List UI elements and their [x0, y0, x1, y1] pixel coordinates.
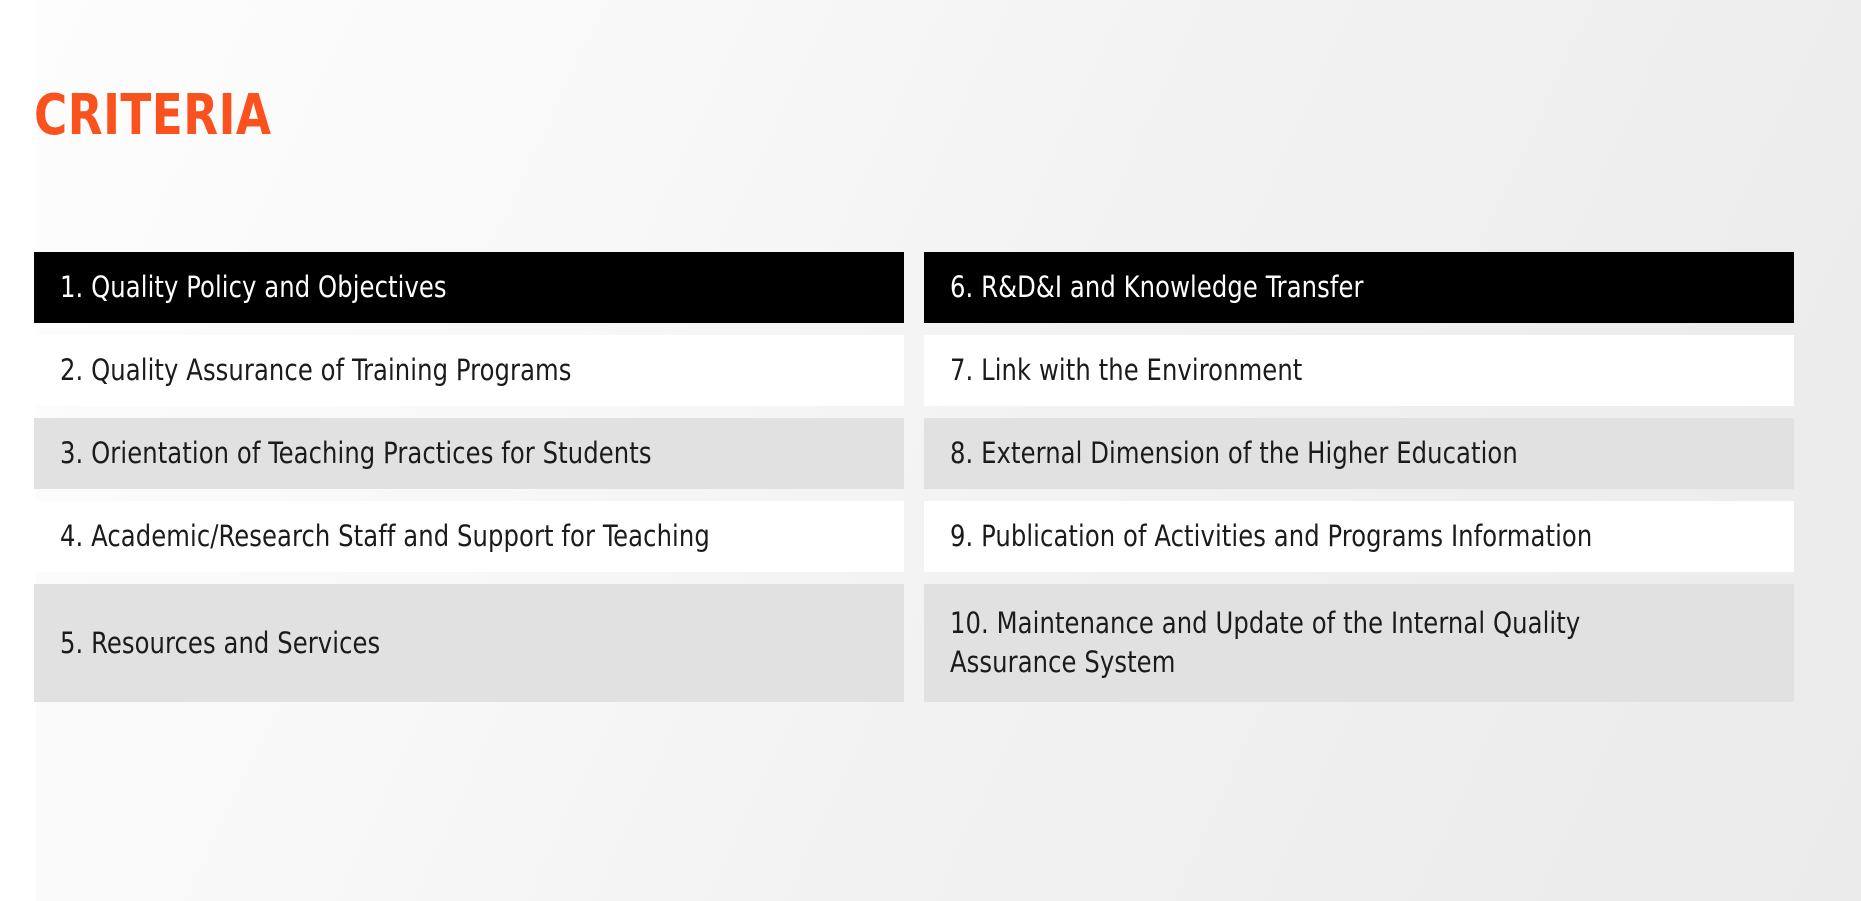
criteria-row-2[interactable]: 2. Quality Assurance of Training Program… [34, 335, 904, 406]
criteria-row-1[interactable]: 1. Quality Policy and Objectives [34, 252, 904, 323]
criteria-row-label: 5. Resources and Services [60, 624, 821, 663]
criteria-row-3[interactable]: 3. Orientation of Teaching Practices for… [34, 418, 904, 489]
criteria-grid: 1. Quality Policy and Objectives2. Quali… [34, 252, 1794, 702]
criteria-row-label: 4. Academic/Research Staff and Support f… [60, 517, 821, 556]
criteria-row-5[interactable]: 5. Resources and Services [34, 584, 904, 702]
criteria-row-label: 3. Orientation of Teaching Practices for… [60, 434, 821, 473]
criteria-row-label: 7. Link with the Environment [950, 351, 1711, 390]
criteria-row-label: 6. R&D&I and Knowledge Transfer [950, 268, 1711, 307]
criteria-row-label: 1. Quality Policy and Objectives [60, 268, 821, 307]
criteria-row-4[interactable]: 4. Academic/Research Staff and Support f… [34, 501, 904, 572]
criteria-row-label: 8. External Dimension of the Higher Educ… [950, 434, 1711, 473]
criteria-column-left: 1. Quality Policy and Objectives2. Quali… [34, 252, 904, 702]
criteria-column-right: 6. R&D&I and Knowledge Transfer7. Link w… [924, 252, 1794, 702]
criteria-row-label: 2. Quality Assurance of Training Program… [60, 351, 821, 390]
criteria-row-8[interactable]: 8. External Dimension of the Higher Educ… [924, 418, 1794, 489]
criteria-row-label: 9. Publication of Activities and Program… [950, 517, 1711, 556]
criteria-row-6[interactable]: 6. R&D&I and Knowledge Transfer [924, 252, 1794, 323]
criteria-row-7[interactable]: 7. Link with the Environment [924, 335, 1794, 406]
criteria-row-10[interactable]: 10. Maintenance and Update of the Intern… [924, 584, 1794, 702]
slide-root: CRITERIA 1. Quality Policy and Objective… [0, 0, 1861, 901]
page-title: CRITERIA [34, 85, 271, 147]
criteria-row-9[interactable]: 9. Publication of Activities and Program… [924, 501, 1794, 572]
criteria-row-label: 10. Maintenance and Update of the Intern… [950, 604, 1711, 682]
